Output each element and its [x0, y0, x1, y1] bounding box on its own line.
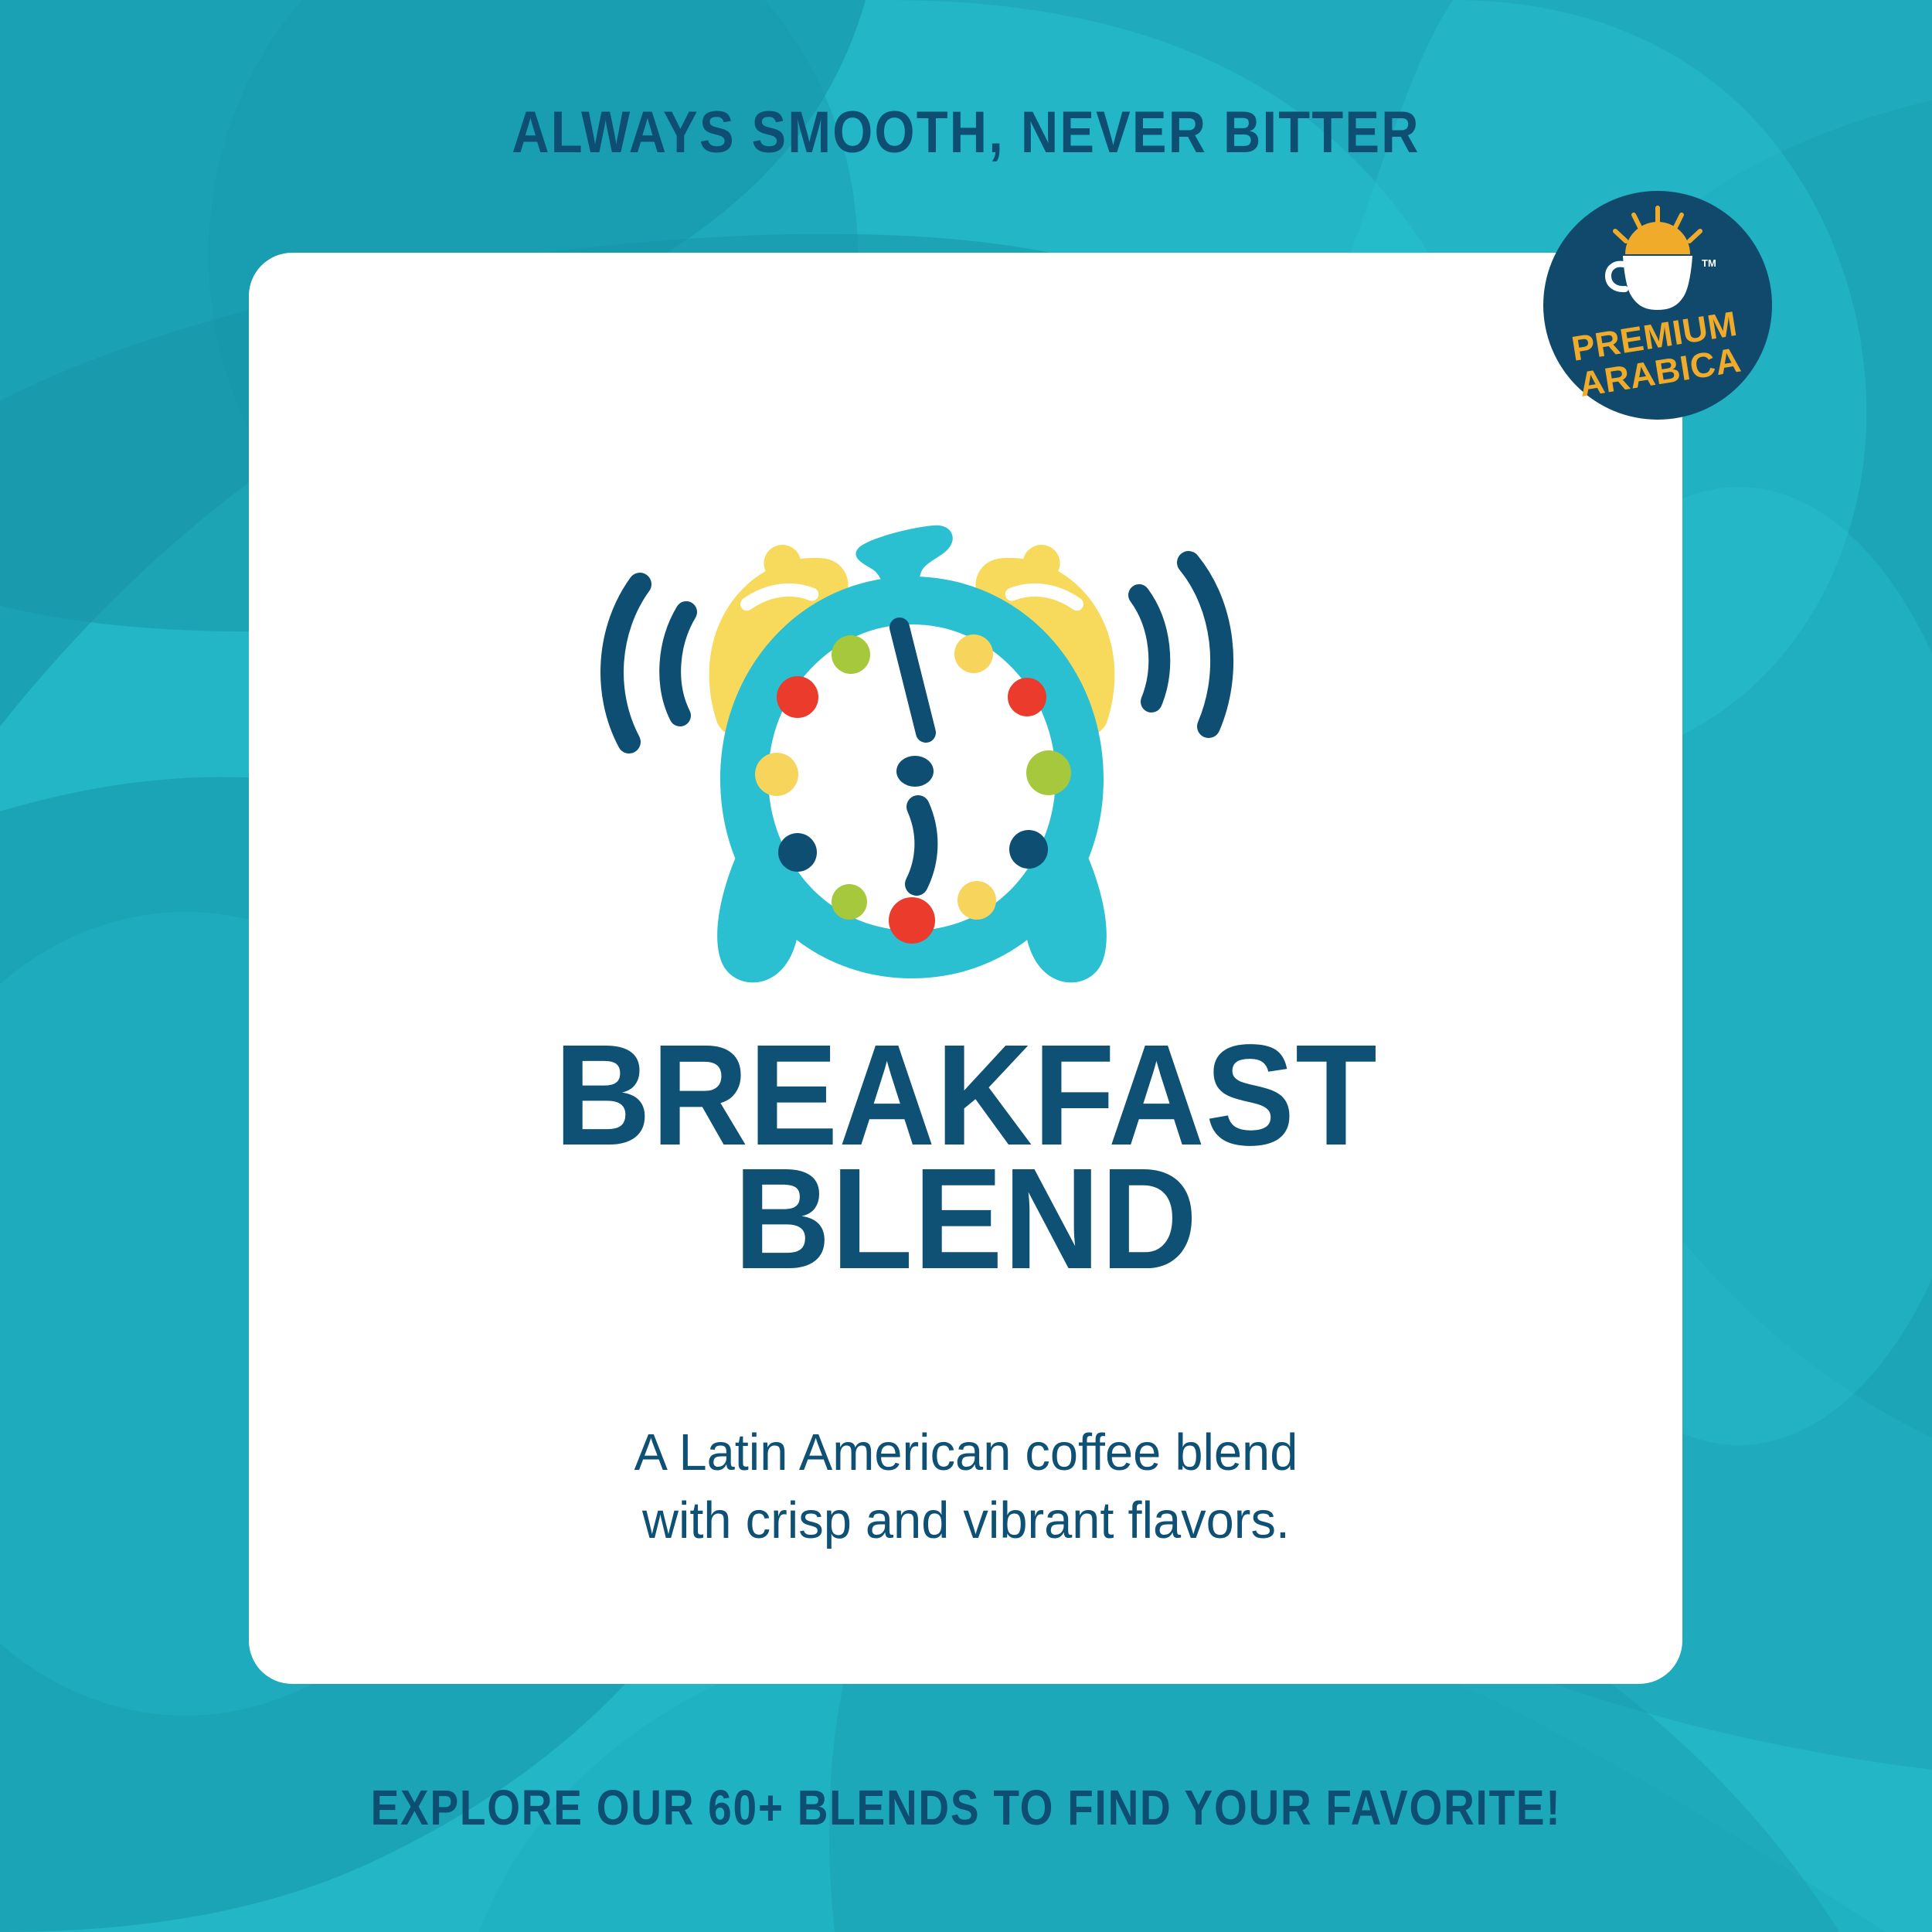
description-line-2: with crisp and vibrant flavors.	[29, 1487, 1903, 1555]
alarm-clock-icon	[587, 417, 1236, 989]
promo-card-canvas: ALWAYS SMOOTH, NEVER BITTER	[0, 0, 1932, 1932]
title-line-2: BLEND	[68, 1158, 1865, 1281]
trademark-mark: TM	[1702, 257, 1716, 269]
premium-arabica-badge[interactable]: TM PREMIUM ARABICA	[1543, 191, 1772, 420]
page-title: BREAKFAST BLEND	[68, 1034, 1865, 1281]
product-description: A Latin American coffee blend with crisp…	[29, 1419, 1903, 1556]
description-line-1: A Latin American coffee blend	[634, 1423, 1298, 1481]
header-tagline: ALWAYS SMOOTH, NEVER BITTER	[116, 99, 1816, 166]
footer-tagline: EXPLORE OUR 60+ BLENDS TO FIND YOUR FAVO…	[135, 1779, 1797, 1836]
